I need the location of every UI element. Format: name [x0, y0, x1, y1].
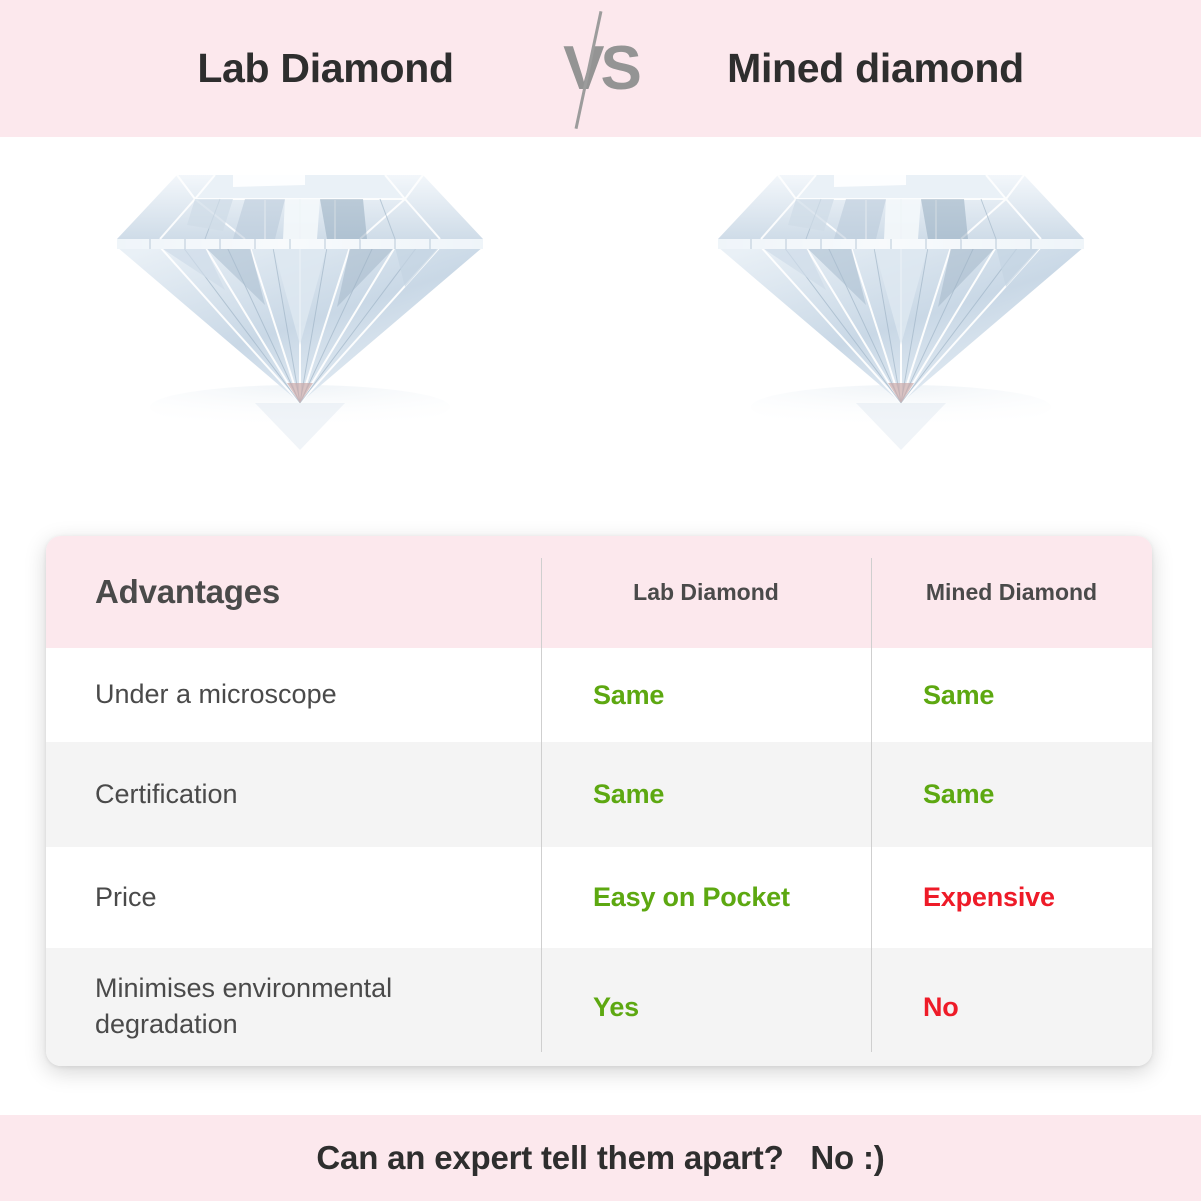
row-mined-value-cell: Expensive	[871, 847, 1152, 948]
column-divider-1	[541, 847, 542, 948]
vs-badge: VS	[541, 0, 661, 137]
lab-diamond-title: Lab Diamond	[111, 45, 541, 92]
lab-value: Same	[593, 680, 664, 711]
feature-label: Minimises environmental degradation	[95, 971, 529, 1042]
row-mined-value-cell: Same	[871, 648, 1152, 742]
diamond-icon	[105, 155, 495, 455]
mined-value: No	[923, 992, 959, 1023]
diamond-showcase	[0, 137, 1201, 532]
table-row: Under a microscope Same Same	[46, 648, 1152, 742]
row-feature-cell: Under a microscope	[46, 648, 541, 742]
mined-value: Same	[923, 779, 994, 810]
row-mined-value-cell: Same	[871, 742, 1152, 847]
row-lab-value-cell: Same	[541, 648, 871, 742]
advantages-label: Advantages	[95, 573, 280, 611]
comparison-table: Advantages Lab Diamond Mined Diamond Und…	[46, 536, 1152, 1066]
table-row: Price Easy on Pocket Expensive	[46, 847, 1152, 948]
mined-diamond-slot	[600, 137, 1201, 532]
column-divider-1	[541, 742, 542, 847]
header-cell-mined-diamond: Mined Diamond	[871, 536, 1152, 648]
mined-diamond-title: Mined diamond	[661, 45, 1091, 92]
lab-value: Easy on Pocket	[593, 882, 790, 913]
lab-value: Same	[593, 779, 664, 810]
footer-band: Can an expert tell them apart? No :)	[0, 1115, 1201, 1201]
lab-diamond-slot	[0, 137, 600, 532]
comparison-table-card: Advantages Lab Diamond Mined Diamond Und…	[46, 536, 1152, 1066]
column-divider-1	[541, 648, 542, 742]
top-header-band: Lab Diamond VS Mined diamond	[0, 0, 1201, 137]
column-divider-1	[541, 558, 542, 648]
column-divider-2	[871, 558, 872, 648]
feature-label: Price	[95, 880, 157, 916]
mined-value: Same	[923, 680, 994, 711]
header-cell-lab-diamond: Lab Diamond	[541, 536, 871, 648]
column-divider-2	[871, 948, 872, 1052]
row-lab-value-cell: Same	[541, 742, 871, 847]
table-row: Certification Same Same	[46, 742, 1152, 847]
mined-value: Expensive	[923, 882, 1055, 913]
header-cell-advantages: Advantages	[46, 536, 541, 648]
table-row: Minimises environmental degradation Yes …	[46, 948, 1152, 1066]
lab-value: Yes	[593, 992, 639, 1023]
vs-label: VS	[563, 38, 638, 100]
row-feature-cell: Minimises environmental degradation	[46, 948, 541, 1066]
lab-diamond-figure	[105, 155, 495, 455]
feature-label: Under a microscope	[95, 677, 337, 713]
diamond-icon	[706, 155, 1096, 455]
column-divider-2	[871, 648, 872, 742]
row-feature-cell: Certification	[46, 742, 541, 847]
feature-label: Certification	[95, 777, 238, 813]
row-lab-value-cell: Yes	[541, 948, 871, 1066]
row-feature-cell: Price	[46, 847, 541, 948]
column-divider-1	[541, 948, 542, 1052]
table-header-row: Advantages Lab Diamond Mined Diamond	[46, 536, 1152, 648]
column-divider-2	[871, 847, 872, 948]
column-divider-2	[871, 742, 872, 847]
row-lab-value-cell: Easy on Pocket	[541, 847, 871, 948]
row-mined-value-cell: No	[871, 948, 1152, 1066]
footer-question: Can an expert tell them apart? No :)	[316, 1139, 884, 1177]
mined-diamond-figure	[706, 155, 1096, 455]
